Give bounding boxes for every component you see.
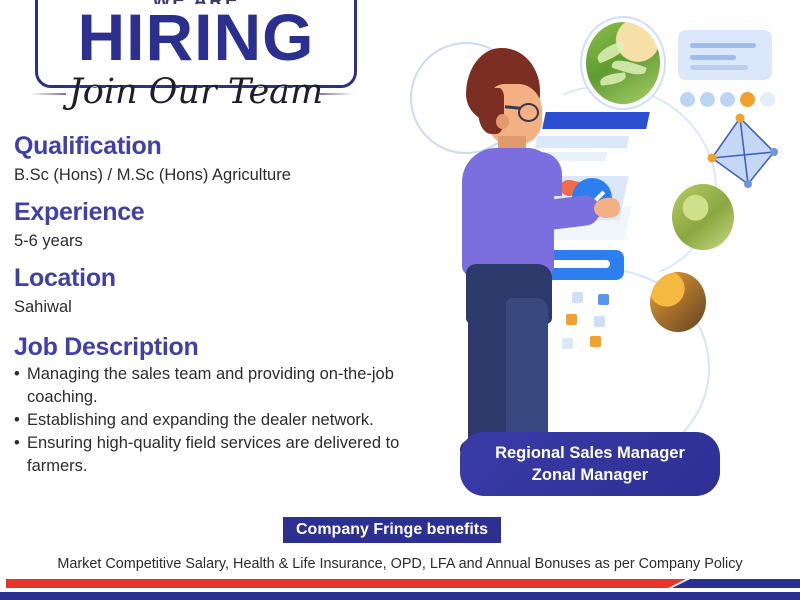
qualification-value: B.Sc (Hons) / M.Sc (Hons) Agriculture: [14, 164, 454, 186]
bullet-icon: •: [14, 409, 27, 432]
qualification-heading: Qualification: [14, 132, 454, 161]
fringe-benefits-badge: Company Fringe benefits: [283, 517, 501, 543]
status-dots-row: [680, 92, 776, 107]
job-description-section: Job Description • Managing the sales tea…: [14, 333, 454, 478]
location-section: Location Sahiwal: [14, 264, 454, 318]
stripe-navy-accent: [672, 579, 800, 588]
list-item-text: Ensuring high-quality field services are…: [27, 432, 454, 478]
grid-square: [598, 294, 609, 305]
list-item: • Managing the sales team and providing …: [14, 363, 454, 409]
cabbage-photo-icon: [672, 184, 734, 250]
experience-value: 5-6 years: [14, 230, 454, 252]
grid-square: [594, 316, 605, 327]
bullet-icon: •: [14, 432, 27, 478]
join-our-team-tagline: Join Our Team: [35, 72, 357, 112]
hiring-header: WE ARE HIRING Join Our Team: [0, 0, 420, 128]
location-value: Sahiwal: [14, 296, 454, 318]
benefits-footer-text: Market Competitive Salary, Health & Life…: [0, 556, 800, 572]
leg-front: [506, 298, 548, 450]
list-item-text: Managing the sales team and providing on…: [27, 363, 454, 409]
list-item-text: Establishing and expanding the dealer ne…: [27, 409, 454, 432]
location-heading: Location: [14, 264, 454, 293]
status-dot-active: [740, 92, 755, 107]
glasses-icon: [518, 103, 539, 122]
job-details-column: Qualification B.Sc (Hons) / M.Sc (Hons) …: [14, 132, 454, 478]
stripe-navy-base: [0, 592, 800, 600]
ear: [496, 114, 509, 129]
bullet-icon: •: [14, 363, 27, 409]
job-title-secondary: Zonal Manager: [532, 464, 648, 486]
job-description-heading: Job Description: [14, 333, 454, 362]
qualification-section: Qualification B.Sc (Hons) / M.Sc (Hons) …: [14, 132, 454, 186]
grain-photo-icon: [650, 272, 706, 332]
list-item: • Ensuring high-quality field services a…: [14, 432, 454, 478]
list-item: • Establishing and expanding the dealer …: [14, 409, 454, 432]
shoulder: [518, 152, 562, 196]
experience-section: Experience 5-6 years: [14, 198, 454, 252]
job-title-banner: Regional Sales Manager Zonal Manager: [460, 432, 720, 496]
footer-stripe: [0, 576, 800, 600]
person-illustration: [452, 48, 582, 458]
crop-photo-icon: [586, 22, 660, 104]
grid-square: [590, 336, 601, 347]
info-card: [678, 30, 772, 80]
stripe-red: [6, 579, 686, 588]
hiring-title: HIRING: [35, 4, 357, 70]
experience-heading: Experience: [14, 198, 454, 227]
job-title-primary: Regional Sales Manager: [495, 442, 685, 464]
leg-back: [468, 298, 508, 448]
